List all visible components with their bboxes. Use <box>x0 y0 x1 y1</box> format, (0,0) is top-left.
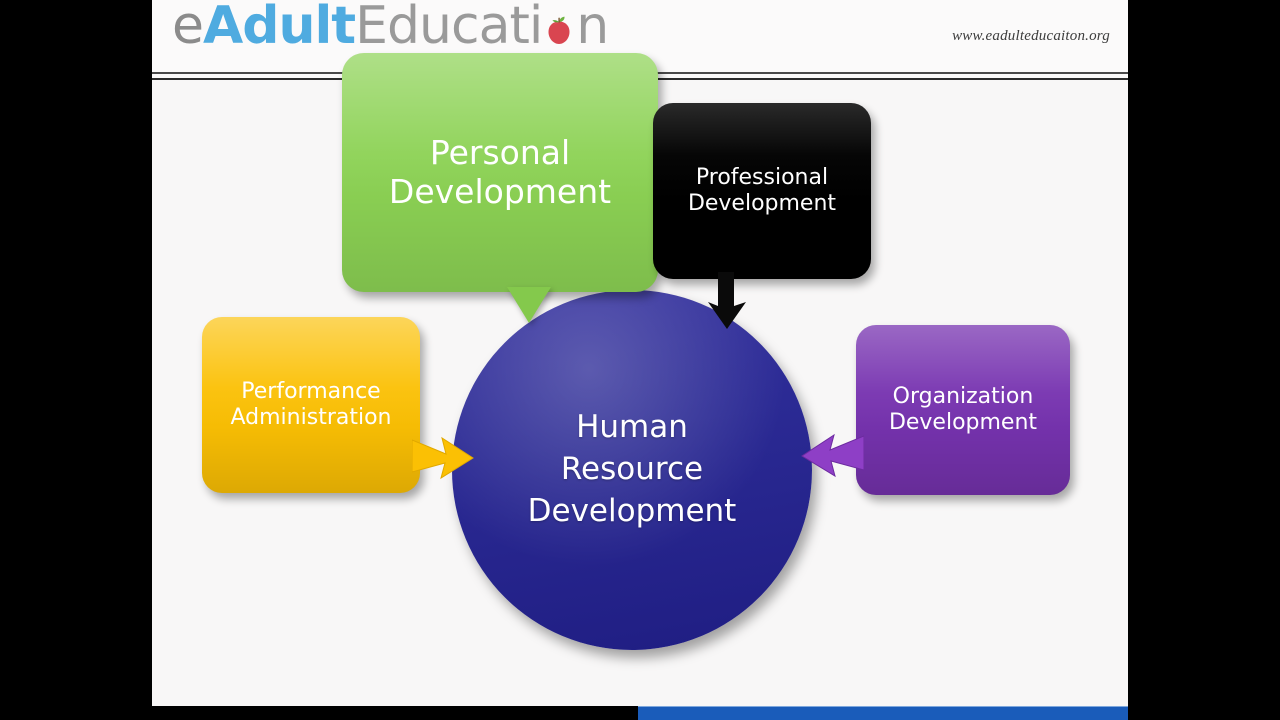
right-arrow-yellow-icon <box>412 432 474 484</box>
left-arrow-purple-icon <box>800 430 864 482</box>
brand-logo: eAdultEducati n <box>172 0 608 56</box>
down-arrow-green-icon <box>507 287 551 323</box>
node-label-professional-development: Professional Development <box>688 165 836 217</box>
diagram-canvas: Human Resource Development Personal Deve… <box>152 80 1128 706</box>
node-performance-administration: Performance Administration <box>202 317 420 493</box>
node-label-personal-development: Personal Development <box>389 134 611 212</box>
slide-area: eAdultEducati n www.eadulteducaiton.org <box>152 0 1128 706</box>
logo-text-adult: Adult <box>203 0 355 56</box>
logo-text-e: e <box>172 0 203 56</box>
player-progress-bar[interactable] <box>638 706 1128 720</box>
video-frame: eAdultEducati n www.eadulteducaiton.org <box>0 0 1280 720</box>
node-human-resource-development: Human Resource Development <box>452 290 812 650</box>
node-personal-development: Personal Development <box>342 53 658 292</box>
site-url: www.eadulteducaiton.org <box>952 28 1110 45</box>
apple-icon <box>542 13 576 47</box>
node-professional-development: Professional Development <box>653 103 871 279</box>
node-label-performance-administration: Performance Administration <box>231 379 392 431</box>
logo-text-n: n <box>576 0 608 56</box>
node-label-organization-development: Organization Development <box>889 384 1037 436</box>
player-bar-left <box>152 706 638 720</box>
node-organization-development: Organization Development <box>856 325 1070 495</box>
node-label-human-resource-development: Human Resource Development <box>528 407 737 533</box>
logo-text-educati: Educati <box>355 0 542 56</box>
down-arrow-black-icon <box>704 272 750 330</box>
